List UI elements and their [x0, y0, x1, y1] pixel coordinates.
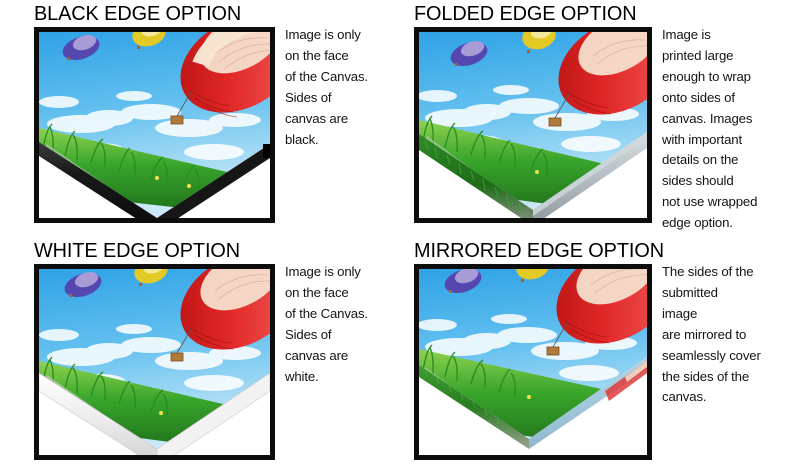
- panel-black-edge: BLACK EDGE OPTION: [0, 0, 400, 237]
- panel-title-black-edge: BLACK EDGE OPTION: [34, 2, 241, 25]
- canvas-frame-black-edge: [34, 27, 275, 223]
- panel-mirrored-edge: MIRRORED EDGE OPTION: [400, 237, 800, 475]
- canvas-artwork-white-edge: [39, 269, 270, 455]
- panel-description-white-edge: Image is only on the face of the Canvas.…: [285, 262, 403, 387]
- canvas-artwork-folded-edge: [419, 32, 647, 218]
- edge-options-grid: BLACK EDGE OPTION: [0, 0, 800, 475]
- canvas-frame-folded-edge: [414, 27, 652, 223]
- panel-title-white-edge: WHITE EDGE OPTION: [34, 239, 240, 262]
- canvas-artwork-mirrored-edge: [419, 269, 647, 455]
- panel-title-folded-edge: FOLDED EDGE OPTION: [414, 2, 637, 25]
- panel-title-mirrored-edge: MIRRORED EDGE OPTION: [414, 239, 664, 262]
- canvas-artwork-black-edge: [39, 32, 270, 218]
- canvas-frame-white-edge: [34, 264, 275, 460]
- canvas-frame-mirrored-edge: [414, 264, 652, 460]
- panel-description-mirrored-edge: The sides of the submitted image are mir…: [662, 262, 800, 408]
- panel-description-black-edge: Image is only on the face of the Canvas.…: [285, 25, 403, 150]
- panel-folded-edge: FOLDED EDGE OPTION: [400, 0, 800, 237]
- panel-description-folded-edge: Image is printed large enough to wrap on…: [662, 25, 800, 234]
- panel-white-edge: WHITE EDGE OPTION: [0, 237, 400, 475]
